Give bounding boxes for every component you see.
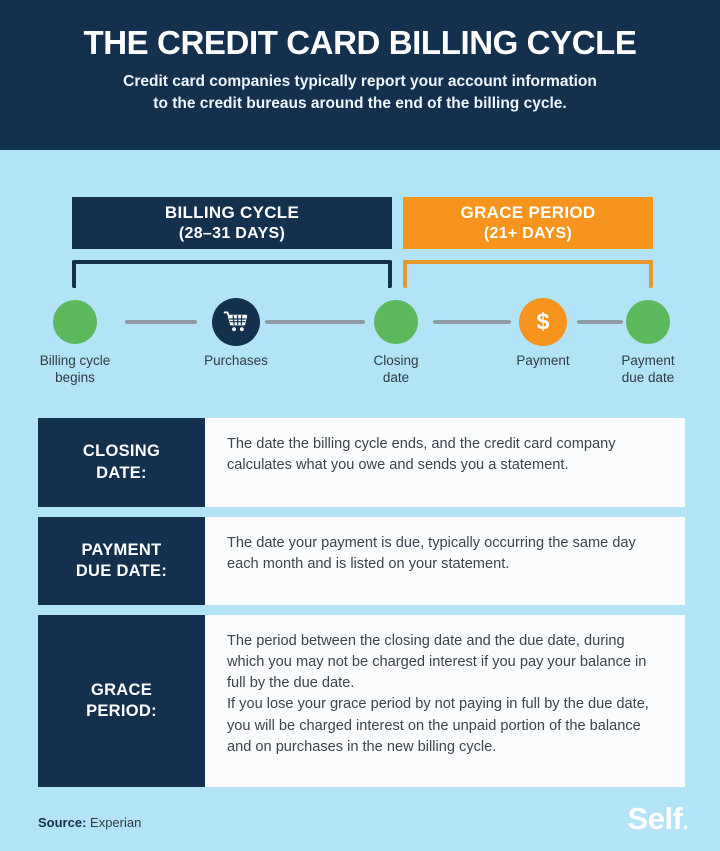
infographic-root: THE CREDIT CARD BILLING CYCLE Credit car… (0, 0, 720, 851)
phase-grace-line1: GRACE PERIOD (461, 203, 596, 224)
timeline-label-purchases: Purchases (161, 352, 311, 369)
node-label-line1: Payment (621, 353, 674, 368)
self-logo-dot: . (682, 809, 688, 834)
card-definition-paragraph-1: The period between the closing date and … (227, 631, 665, 694)
source-attribution: Source: Experian (38, 815, 141, 830)
definition-card-payment-due-date: PAYMENT DUE DATE: The date your payment … (38, 517, 685, 605)
dollar-sign-icon: $ (529, 308, 557, 336)
card-term-line2: PERIOD: (86, 702, 157, 720)
connector-segment-2 (265, 320, 365, 324)
connector-segment-4 (577, 320, 623, 324)
phase-label-billing-cycle: BILLING CYCLE (28–31 DAYS) (72, 197, 392, 249)
connector-segment-1 (125, 320, 197, 324)
node-label-line1: Purchases (204, 353, 268, 368)
card-definition-paragraph-2: If you lose your grace period by not pay… (227, 694, 665, 757)
card-term-closing-date: CLOSING DATE: (38, 418, 205, 507)
connector-segment-3 (433, 320, 511, 324)
timeline-node-closing-date[interactable] (374, 300, 418, 344)
self-logo: Self. (628, 801, 688, 837)
card-term-line1: GRACE (91, 681, 152, 699)
card-term-grace-period: GRACE PERIOD: (38, 615, 205, 787)
header-subtitle-line1: Credit card companies typically report y… (123, 73, 597, 90)
source-label: Source: (38, 815, 86, 830)
definition-card-closing-date: CLOSING DATE: The date the billing cycle… (38, 418, 685, 507)
node-label-line1: Closing (373, 353, 418, 368)
definition-card-grace-period: GRACE PERIOD: The period between the clo… (38, 615, 685, 787)
timeline-section: BILLING CYCLE (28–31 DAYS) GRACE PERIOD … (0, 150, 720, 405)
source-value: Experian (90, 815, 141, 830)
node-label-line2: begins (55, 370, 95, 385)
timeline-node-payment-due-date[interactable] (626, 300, 670, 344)
header-subtitle: Credit card companies typically report y… (40, 71, 680, 115)
phase-billing-line1: BILLING CYCLE (165, 203, 299, 224)
timeline-node-purchases[interactable] (212, 298, 260, 346)
header-subtitle-line2: to the credit bureaus around the end of … (153, 95, 566, 112)
phase-label-grace-period: GRACE PERIOD (21+ DAYS) (403, 197, 653, 249)
shopping-cart-icon (223, 309, 249, 335)
phase-billing-line2: (28–31 DAYS) (179, 224, 285, 244)
timeline-node-billing-cycle-begins[interactable] (53, 300, 97, 344)
card-term-payment-due-date: PAYMENT DUE DATE: (38, 517, 205, 605)
card-definition-closing-date: The date the billing cycle ends, and the… (205, 418, 685, 507)
card-definition-grace-period: The period between the closing date and … (205, 615, 685, 787)
card-definition-paragraph: The date the billing cycle ends, and the… (227, 434, 665, 476)
timeline-label-closing-date: Closing date (321, 352, 471, 387)
bracket-grace-period (403, 260, 653, 288)
node-label-line2: date (383, 370, 409, 385)
definition-cards: CLOSING DATE: The date the billing cycle… (38, 418, 685, 797)
card-definition-payment-due-date: The date your payment is due, typically … (205, 517, 685, 605)
card-term-line2: DUE DATE: (76, 562, 167, 580)
footer: Source: Experian Self. (0, 795, 720, 851)
node-label-line1: Billing cycle (40, 353, 111, 368)
card-term-line2: DATE: (96, 464, 147, 482)
timeline-label-payment-due-date: Payment due date (573, 352, 720, 387)
page-title: THE CREDIT CARD BILLING CYCLE (26, 26, 694, 61)
self-logo-text: Self (628, 801, 683, 836)
card-term-line1: PAYMENT (81, 541, 161, 559)
phase-grace-line2: (21+ DAYS) (484, 224, 572, 244)
node-label-line2: due date (622, 370, 675, 385)
timeline-label-billing-cycle-begins: Billing cycle begins (0, 352, 150, 387)
header-banner: THE CREDIT CARD BILLING CYCLE Credit car… (0, 0, 720, 150)
node-label-line1: Payment (516, 353, 569, 368)
card-definition-paragraph: The date your payment is due, typically … (227, 533, 665, 575)
timeline-node-payment[interactable]: $ (519, 298, 567, 346)
card-term-line1: CLOSING (83, 442, 160, 460)
svg-text:$: $ (537, 309, 550, 335)
bracket-billing-cycle (72, 260, 392, 288)
